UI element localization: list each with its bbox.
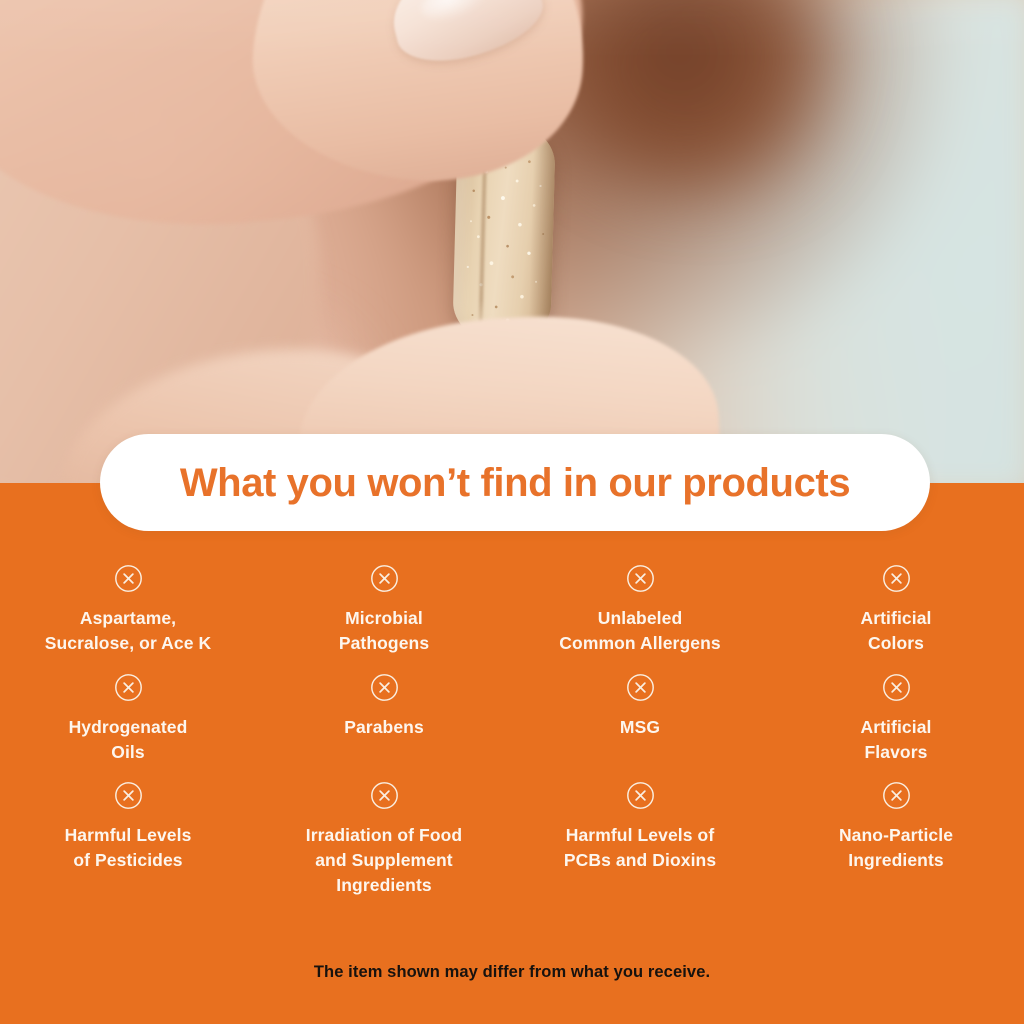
headline-pill: What you won’t find in our products — [100, 434, 930, 531]
circle-x-icon — [114, 564, 143, 593]
grid-row: HydrogenatedOils Parabens MSG — [0, 665, 1024, 765]
disclaimer-note: The item shown may differ from what you … — [0, 963, 1024, 982]
grid-cell: Harmful Levelsof Pesticides — [0, 773, 256, 898]
circle-x-icon — [882, 673, 911, 702]
product-photo — [0, 0, 1024, 486]
grid-cell: UnlabeledCommon Allergens — [512, 556, 768, 656]
grid-cell: MSG — [512, 665, 768, 765]
grid-cell-label: Irradiation of Foodand SupplementIngredi… — [306, 823, 462, 898]
circle-x-icon — [626, 673, 655, 702]
circle-x-icon — [370, 781, 399, 810]
circle-x-icon — [626, 781, 655, 810]
grid-cell: Nano-ParticleIngredients — [768, 773, 1024, 898]
headline-emphasis: won’t — [367, 461, 469, 505]
circle-x-icon — [626, 564, 655, 593]
grid-cell: Parabens — [256, 665, 512, 765]
grid-cell-label: Parabens — [344, 715, 424, 740]
grid-cell-label: MicrobialPathogens — [339, 606, 429, 656]
grid-cell: ArtificialColors — [768, 556, 1024, 656]
grid-cell: ArtificialFlavors — [768, 665, 1024, 765]
circle-x-icon — [370, 564, 399, 593]
grid-cell-label: ArtificialFlavors — [860, 715, 931, 765]
circle-x-icon — [882, 564, 911, 593]
grid-cell-label: UnlabeledCommon Allergens — [559, 606, 720, 656]
grid-cell-label: Aspartame,Sucralose, or Ace K — [45, 606, 212, 656]
grid-cell: Harmful Levels ofPCBs and Dioxins — [512, 773, 768, 898]
circle-x-icon — [114, 781, 143, 810]
circle-x-icon — [882, 781, 911, 810]
infographic-canvas: What you won’t find in our products Aspa… — [0, 0, 1024, 1024]
grid-cell: Irradiation of Foodand SupplementIngredi… — [256, 773, 512, 898]
grid-cell-label: MSG — [620, 715, 660, 740]
circle-x-icon — [114, 673, 143, 702]
grid-cell-label: HydrogenatedOils — [69, 715, 188, 765]
grid-cell: Aspartame,Sucralose, or Ace K — [0, 556, 256, 656]
grid-cell-label: Harmful Levelsof Pesticides — [65, 823, 192, 873]
grid-cell: HydrogenatedOils — [0, 665, 256, 765]
page-title: What you won’t find in our products — [180, 463, 850, 503]
excluded-ingredients-grid: Aspartame,Sucralose, or Ace K MicrobialP… — [0, 556, 1024, 907]
headline-part-2: find in our products — [470, 461, 850, 505]
grid-row: Aspartame,Sucralose, or Ace K MicrobialP… — [0, 556, 1024, 656]
circle-x-icon — [370, 673, 399, 702]
grid-cell-label: Nano-ParticleIngredients — [839, 823, 953, 873]
grid-cell-label: Harmful Levels ofPCBs and Dioxins — [564, 823, 716, 873]
grid-cell: MicrobialPathogens — [256, 556, 512, 656]
grid-row: Harmful Levelsof Pesticides Irradiation … — [0, 773, 1024, 898]
grid-cell-label: ArtificialColors — [860, 606, 931, 656]
headline-part-1: What you — [180, 461, 368, 505]
